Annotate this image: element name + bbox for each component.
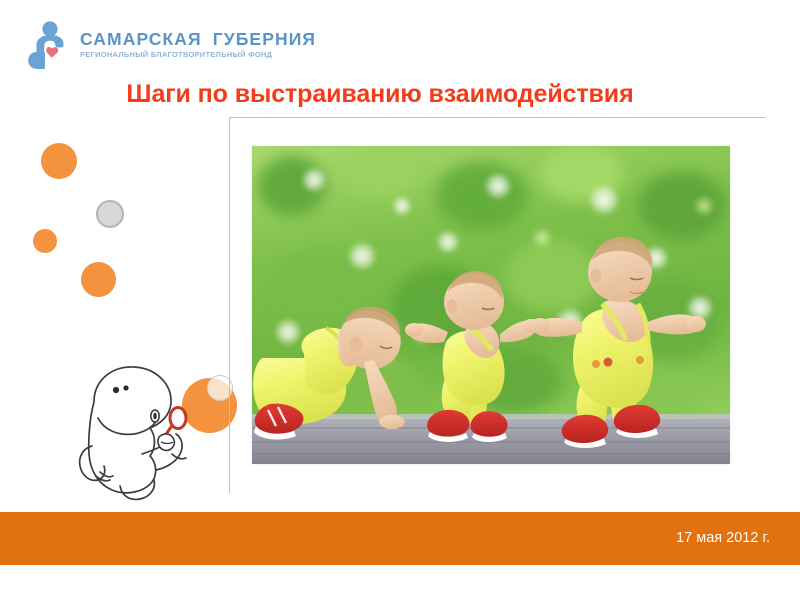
deco-circle-orange-small <box>33 229 57 253</box>
slide-title: Шаги по выстраиванию взаимодействия <box>0 80 760 109</box>
logo-organization-name: САМАРСКАЯГУБЕРНИЯ <box>80 30 316 48</box>
cartoon-mascot-with-magnifier <box>64 358 214 506</box>
presentation-slide: САМАРСКАЯГУБЕРНИЯ РЕГИОНАЛЬНЫЙ БЛАГОТВОР… <box>0 0 800 600</box>
logo-org-word-1: САМАРСКАЯ <box>80 29 202 49</box>
logo-org-word-2: ГУБЕРНИЯ <box>213 29 316 49</box>
organization-logo: САМАРСКАЯГУБЕРНИЯ РЕГИОНАЛЬНЫЙ БЛАГОТВОР… <box>26 17 286 73</box>
footer-date: 17 мая 2012 г. <box>676 530 770 546</box>
logo-subtitle: РЕГИОНАЛЬНЫЙ БЛАГОТВОРИТЕЛЬНЫЙ ФОНД <box>80 51 316 60</box>
deco-circle-orange-large-bottom <box>81 262 116 297</box>
logo-text-block: САМАРСКАЯГУБЕРНИЯ РЕГИОНАЛЬНЫЙ БЛАГОТВОР… <box>80 30 316 59</box>
deco-circle-orange-large-top <box>41 143 77 179</box>
deco-circle-gray <box>96 200 124 228</box>
person-heart-logo-icon <box>26 19 76 71</box>
photo-babies-learning-to-walk <box>252 146 730 464</box>
